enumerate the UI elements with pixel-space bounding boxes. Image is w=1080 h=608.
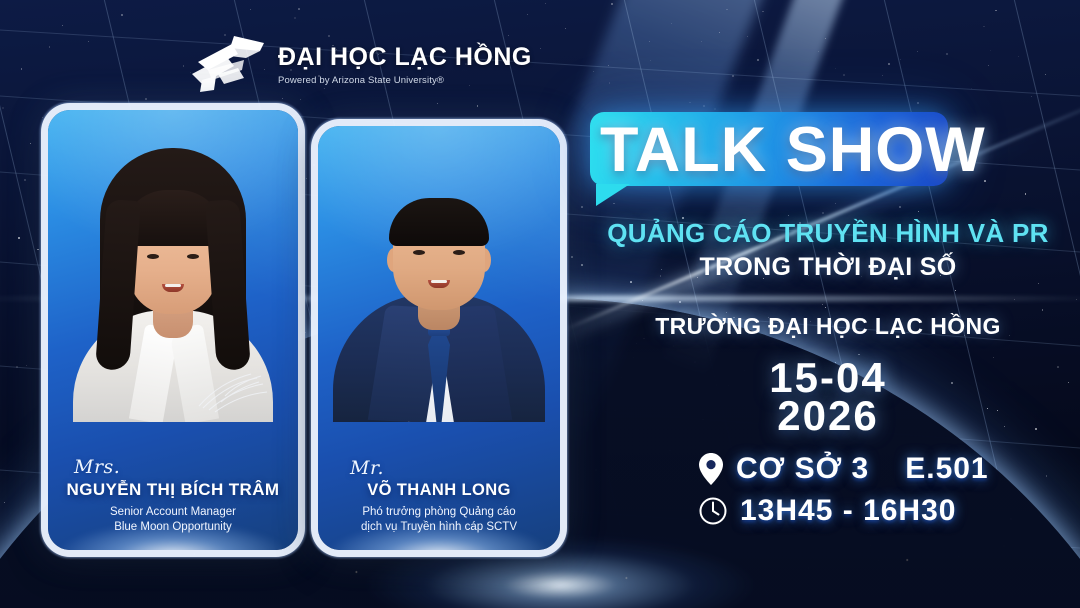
- talk-show-title: TALK SHOW: [600, 116, 1060, 184]
- event-location-text: CƠ SỞ 3: [736, 452, 869, 486]
- event-date-year: 2026: [580, 395, 1076, 437]
- clock-icon: [698, 496, 728, 526]
- event-location-row: CƠ SỞ 3 E.501: [698, 452, 989, 486]
- speaker-name: NGUYỄN THỊ BÍCH TRÂM: [58, 480, 288, 500]
- university-logo: ĐẠI HỌC LẠC HỒNG Powered by Arizona Stat…: [186, 34, 532, 96]
- speaker-name: VÕ THANH LONG: [328, 481, 550, 500]
- speaker-role-line1: Senior Account Manager: [58, 505, 288, 521]
- map-pin-icon: [698, 452, 724, 486]
- speaker-salutation: Mr.: [328, 457, 550, 479]
- feather-trim-icon: [195, 336, 273, 414]
- speaker-photo-1: [48, 116, 298, 422]
- speaker-caption-1: Mrs. NGUYỄN THỊ BÍCH TRÂM Senior Account…: [48, 456, 298, 536]
- logo-title: ĐẠI HỌC LẠC HỒNG: [278, 45, 532, 70]
- logo-subtitle: Powered by Arizona State University®: [278, 76, 532, 86]
- speaker-role-line2: Blue Moon Opportunity: [58, 520, 288, 536]
- speaker-card-1: Mrs. NGUYỄN THỊ BÍCH TRÂM Senior Account…: [48, 110, 298, 550]
- lac-hong-bird-mark-icon: [186, 34, 270, 96]
- headline-subtitle-line2: TRONG THỜI ĐẠI SỐ: [580, 253, 1076, 282]
- speaker-photo-2: [318, 132, 560, 422]
- poster-canvas: ĐẠI HỌC LẠC HỒNG Powered by Arizona Stat…: [0, 0, 1080, 608]
- event-time-row: 13H45 - 16H30: [698, 494, 956, 528]
- speaker-salutation: Mrs.: [58, 456, 288, 478]
- speaker-role-line2: dịch vụ Truyền hình cáp SCTV: [328, 520, 550, 536]
- event-time-text: 13H45 - 16H30: [740, 494, 956, 528]
- headline-subtitle-line1: QUẢNG CÁO TRUYỀN HÌNH VÀ PR: [580, 218, 1076, 249]
- speaker-caption-2: Mr. VÕ THANH LONG Phó trưởng phòng Quảng…: [318, 457, 560, 536]
- speaker-role-line1: Phó trưởng phòng Quảng cáo: [328, 505, 550, 521]
- event-room-text: E.501: [905, 452, 988, 486]
- bubble-tail: [596, 184, 630, 206]
- speaker-card-2: Mr. VÕ THANH LONG Phó trưởng phòng Quảng…: [318, 126, 560, 550]
- event-venue: TRƯỜNG ĐẠI HỌC LẠC HỒNG: [580, 313, 1076, 340]
- event-info-panel: TALK SHOW QUẢNG CÁO TRUYỀN HÌNH VÀ PR TR…: [576, 0, 1080, 608]
